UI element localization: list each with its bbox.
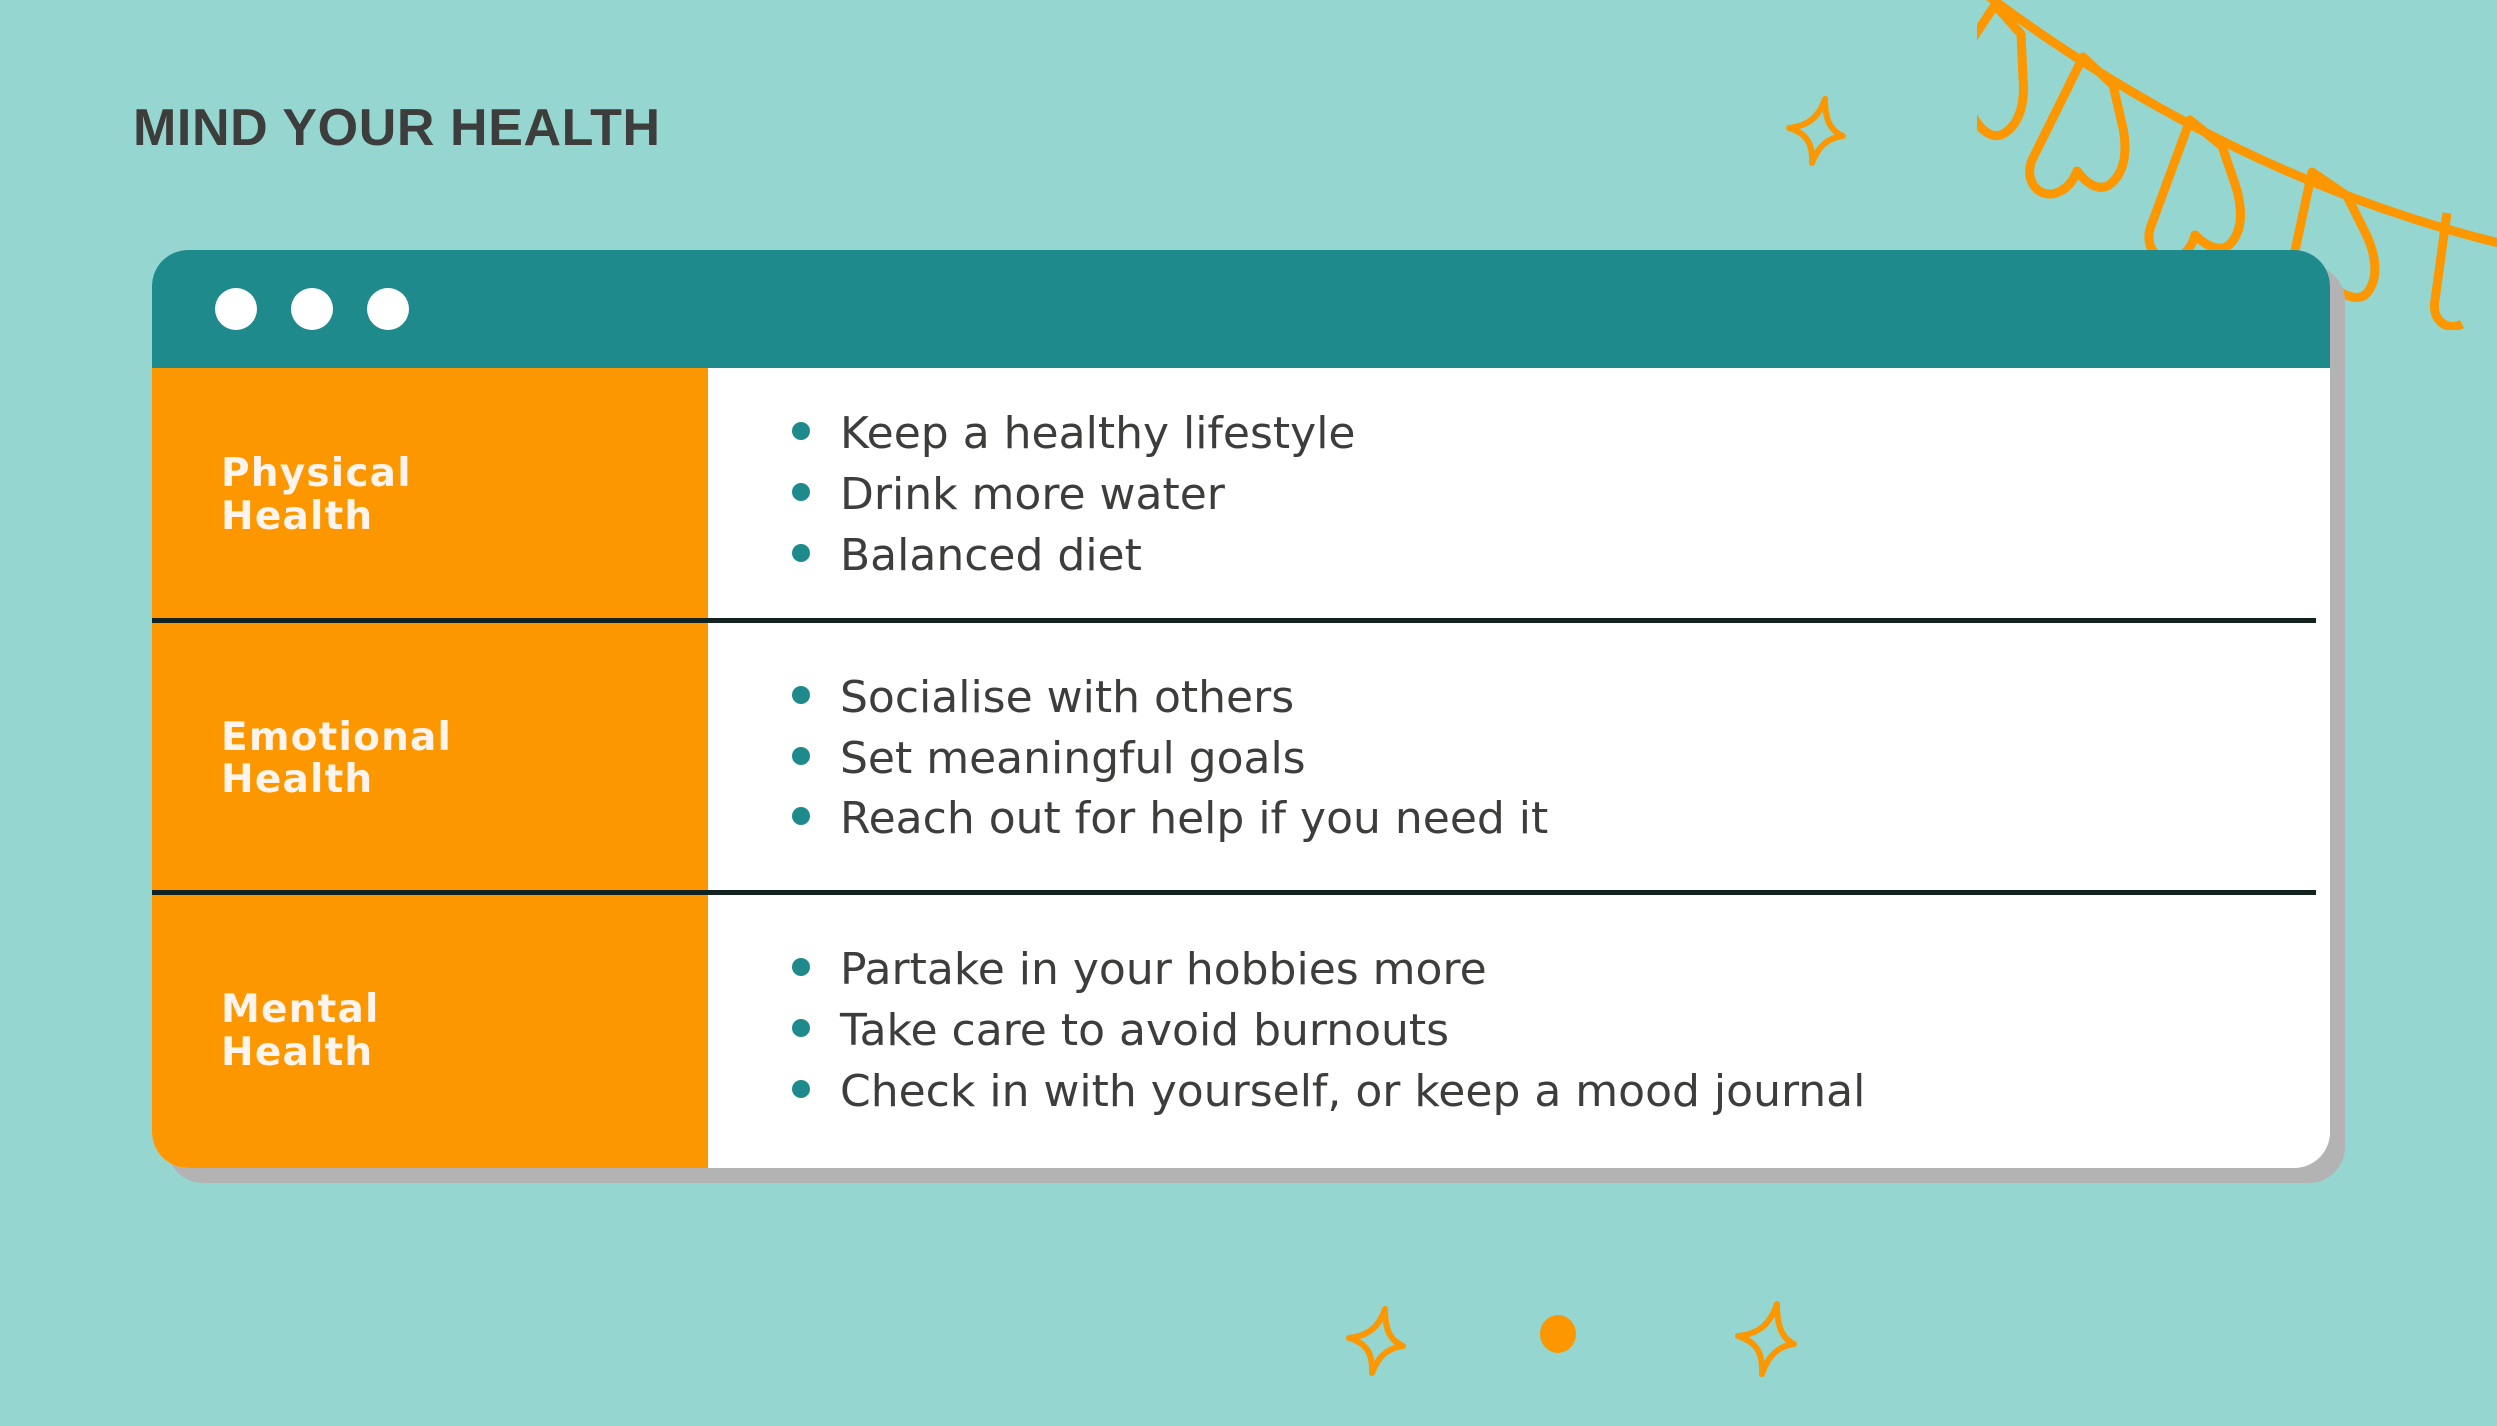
tip-text: Set meaningful goals xyxy=(840,729,1306,790)
bullet-icon xyxy=(792,1080,810,1098)
bullet-icon xyxy=(792,807,810,825)
bullet-icon xyxy=(792,422,810,440)
tip-text: Balanced diet xyxy=(840,526,1142,587)
sparkle-icon xyxy=(1785,95,1847,167)
bullet-icon xyxy=(792,1019,810,1037)
list-item: Reach out for help if you need it xyxy=(792,789,2330,850)
tip-text: Partake in your hobbies more xyxy=(840,940,1487,1001)
tip-text: Keep a healthy lifestyle xyxy=(840,404,1356,465)
tip-text: Socialise with others xyxy=(840,668,1294,729)
section-tips-emotional: Socialise with others Set meaningful goa… xyxy=(708,623,2330,895)
tip-text: Check in with yourself, or keep a mood j… xyxy=(840,1062,1865,1123)
tip-text: Take care to avoid burnouts xyxy=(840,1001,1449,1062)
sparkle-icon xyxy=(1735,1300,1797,1378)
window-titlebar xyxy=(152,250,2330,368)
list-item: Partake in your hobbies more xyxy=(792,940,2330,1001)
sparkle-icon xyxy=(1345,1305,1407,1377)
list-item: Take care to avoid burnouts xyxy=(792,1001,2330,1062)
page-title: MIND YOUR HEALTH xyxy=(133,98,661,158)
list-item: Check in with yourself, or keep a mood j… xyxy=(792,1062,2330,1123)
list-item: Balanced diet xyxy=(792,526,2330,587)
bullet-icon xyxy=(792,958,810,976)
tip-text: Reach out for help if you need it xyxy=(840,789,1548,850)
section-label-physical: Physical Health xyxy=(152,368,708,623)
section-divider xyxy=(152,890,2316,895)
window-body: Physical Health Keep a healthy lifestyle… xyxy=(152,368,2330,1168)
section-label-emotional: Emotional Health xyxy=(152,623,708,895)
health-section-emotional: Emotional Health Socialise with others S… xyxy=(152,623,2330,895)
health-section-mental: Mental Health Partake in your hobbies mo… xyxy=(152,895,2330,1168)
bullet-icon xyxy=(792,686,810,704)
section-label-mental: Mental Health xyxy=(152,895,708,1168)
bullet-icon xyxy=(792,747,810,765)
dot-decoration xyxy=(1540,1315,1576,1353)
list-item: Socialise with others xyxy=(792,668,2330,729)
section-label-text: Physical Health xyxy=(221,453,412,537)
browser-window-card: Physical Health Keep a healthy lifestyle… xyxy=(152,250,2330,1168)
section-tips-physical: Keep a healthy lifestyle Drink more wate… xyxy=(708,368,2330,623)
section-divider xyxy=(152,618,2316,623)
window-dot-minimize[interactable] xyxy=(291,288,333,330)
health-section-physical: Physical Health Keep a healthy lifestyle… xyxy=(152,368,2330,623)
section-label-text: Emotional Health xyxy=(221,717,452,801)
list-item: Keep a healthy lifestyle xyxy=(792,404,2330,465)
window-dot-close[interactable] xyxy=(215,288,257,330)
list-item: Drink more water xyxy=(792,465,2330,526)
bullet-icon xyxy=(792,483,810,501)
list-item: Set meaningful goals xyxy=(792,729,2330,790)
section-tips-mental: Partake in your hobbies more Take care t… xyxy=(708,895,2330,1168)
window-dot-maximize[interactable] xyxy=(367,288,409,330)
tip-text: Drink more water xyxy=(840,465,1225,526)
section-label-text: Mental Health xyxy=(221,989,380,1073)
bullet-icon xyxy=(792,544,810,562)
